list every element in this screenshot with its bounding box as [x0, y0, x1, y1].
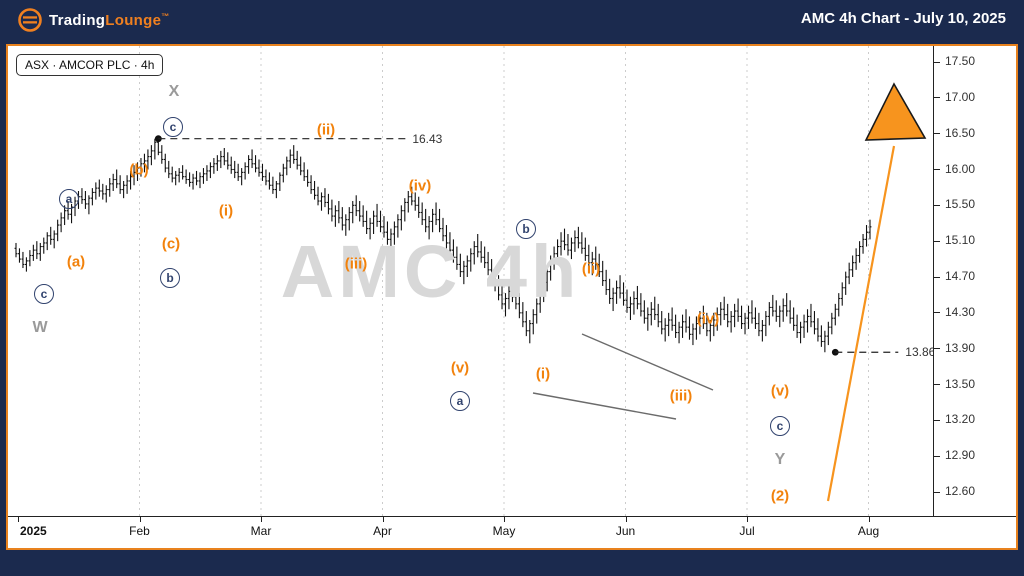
ohlc-bar	[469, 248, 472, 271]
price-tick-label: 16.50	[945, 126, 975, 140]
ohlc-bar	[841, 282, 844, 305]
ohlc-bar	[275, 181, 278, 198]
ohlc-bar	[490, 259, 493, 284]
ohlc-bar	[803, 315, 806, 338]
ohlc-bar	[320, 192, 323, 210]
ohlc-bar	[622, 282, 625, 305]
brand-logo: TradingLounge™	[18, 8, 170, 32]
ohlc-bar	[674, 315, 677, 338]
ohlc-bar	[122, 181, 125, 198]
ohlc-bar	[612, 288, 615, 311]
ohlc-bar	[601, 261, 604, 286]
ohlc-bar	[487, 252, 490, 275]
ohlc-bar	[855, 248, 858, 269]
ohlc-bar	[796, 315, 799, 338]
chart-screenshot: TradingLounge™ AMC 4h Chart - July 10, 2…	[0, 0, 1024, 576]
ohlc-bar	[629, 297, 632, 320]
wave-label-ii-14: (ii)	[317, 122, 335, 139]
ohlc-bar	[726, 304, 729, 327]
ohlc-bar	[844, 272, 847, 295]
ohlc-bar	[185, 170, 188, 184]
wave-label-X-0: X	[169, 83, 180, 101]
ohlc-bar	[296, 151, 299, 170]
price-tick-mark	[934, 456, 940, 457]
ohlc-bar	[396, 214, 399, 237]
forecast-arrow-head	[866, 84, 925, 140]
ohlc-bar	[837, 293, 840, 316]
ohlc-bar	[657, 304, 660, 327]
ohlc-bar	[81, 188, 84, 204]
ohlc-bar	[577, 227, 580, 249]
ohlc-bar	[25, 257, 28, 271]
ohlc-bar	[181, 165, 184, 179]
price-tick-label: 16.00	[945, 162, 975, 176]
ohlc-bar	[247, 155, 250, 174]
ohlc-bar	[757, 313, 760, 336]
time-tick-label: Jun	[616, 524, 635, 538]
ohlc-bar	[514, 286, 517, 309]
ohlc-bar	[167, 161, 170, 178]
ohlc-bar	[153, 139, 156, 160]
price-tick-mark	[934, 169, 940, 170]
ohlc-bar	[358, 201, 361, 221]
ohlc-bar	[848, 263, 851, 285]
ohlc-bar	[584, 238, 587, 261]
price-tick-mark	[934, 492, 940, 493]
time-axis[interactable]: 2025FebMarAprMayJunJulAug	[8, 516, 1016, 548]
ohlc-bar	[851, 256, 854, 278]
ohlc-bar	[462, 261, 465, 284]
wave-label-iv-16: (iv)	[409, 178, 432, 195]
ohlc-bar	[678, 322, 681, 344]
ohlc-bar	[341, 207, 344, 230]
time-tick-mark	[383, 517, 384, 522]
price-tick-label: 13.20	[945, 412, 975, 426]
ohlc-bar	[230, 157, 233, 174]
ohlc-bar	[178, 168, 181, 182]
ohlc-bar	[393, 221, 396, 244]
ohlc-bar	[372, 211, 375, 234]
ohlc-bar	[466, 256, 469, 278]
ohlc-bar	[428, 216, 431, 239]
price-tick-label: 15.50	[945, 197, 975, 211]
ohlc-bar	[403, 198, 406, 221]
ohlc-bar	[563, 229, 566, 251]
ohlc-bar	[205, 165, 208, 181]
wave-label-c-6: c	[163, 117, 183, 137]
ohlc-bar	[619, 275, 622, 298]
ohlc-bar	[195, 171, 198, 185]
ohlc-bar	[344, 214, 347, 236]
price-tick-mark	[934, 420, 940, 421]
ohlc-bar	[327, 194, 330, 214]
ohlc-bar	[771, 295, 774, 316]
ohlc-bar	[764, 311, 767, 336]
time-tick-mark	[626, 517, 627, 522]
ohlc-bar	[199, 172, 202, 188]
ohlc-bar	[289, 149, 292, 168]
ohlc-bar	[303, 162, 306, 181]
ohlc-bar	[813, 311, 816, 334]
ohlc-bar	[650, 302, 653, 325]
ohlc-bar	[473, 241, 476, 264]
ohlc-bar	[28, 250, 31, 266]
ohlc-bar	[494, 268, 497, 291]
ohlc-bar	[348, 207, 351, 230]
ohlc-bar	[459, 254, 462, 277]
ohlc-bar	[546, 266, 549, 291]
ohlc-bar	[646, 307, 649, 330]
ohlc-bar	[306, 170, 309, 187]
ohlc-bar	[32, 245, 35, 261]
ohlc-bar	[271, 177, 274, 194]
ohlc-bar	[688, 316, 691, 339]
ohlc-bar	[667, 313, 670, 336]
ohlc-bar	[160, 145, 163, 164]
ohlc-bar	[108, 178, 111, 197]
time-tick-label: Aug	[858, 524, 879, 538]
ohlc-bar	[285, 157, 288, 176]
ohlc-bar	[528, 320, 531, 343]
wave-label-v-22: (v)	[771, 383, 789, 400]
chart-plot-area[interactable]: AMC 4h XWYcabcabc(a)(b)(c)(i)(ii)(iii)(i…	[8, 46, 933, 516]
ohlc-bar	[351, 201, 354, 223]
wave-label-a-10: (a)	[67, 254, 85, 271]
ohlc-bar	[324, 188, 327, 207]
time-tick-mark	[869, 517, 870, 522]
ohlc-bar	[237, 164, 240, 181]
time-tick-label: Apr	[373, 524, 392, 538]
ohlc-bar	[570, 238, 573, 259]
ohlc-bar	[823, 331, 826, 353]
ohlc-bar	[730, 311, 733, 333]
ohlc-bar	[480, 241, 483, 263]
wave-label-ii-19: (ii)	[582, 261, 600, 278]
ohlc-bar	[21, 252, 24, 268]
ohlc-bar	[101, 184, 104, 200]
price-axis[interactable]: 17.5017.0016.5016.0015.5015.1014.7014.30…	[933, 46, 1016, 516]
ohlc-bar	[174, 171, 177, 185]
time-tick-mark	[18, 517, 19, 522]
ohlc-bar	[664, 318, 667, 341]
ohlc-bar	[858, 241, 861, 263]
price-bars-svg	[8, 46, 933, 516]
ohlc-bar	[775, 300, 778, 321]
ohlc-bar	[417, 197, 420, 218]
ohlc-bar	[761, 320, 764, 342]
ohlc-bar	[84, 191, 87, 209]
ohlc-bar	[782, 299, 785, 322]
ohlc-bar	[660, 311, 663, 334]
ohlc-bar	[91, 188, 94, 205]
ohlc-bar	[605, 270, 608, 295]
ohlc-bar	[226, 152, 229, 169]
ohlc-bar	[525, 311, 528, 336]
ohlc-bar	[254, 155, 257, 172]
chart-frame: AMC 4h XWYcabcabc(a)(b)(c)(i)(ii)(iii)(i…	[6, 44, 1018, 550]
ohlc-bar	[310, 175, 313, 194]
ohlc-bar	[369, 218, 372, 240]
price-tick-mark	[934, 205, 940, 206]
tradinglounge-circle-icon	[18, 8, 42, 32]
gridlines-group	[140, 46, 869, 516]
price-tick-label: 14.30	[945, 305, 975, 319]
ohlc-bar	[317, 187, 320, 206]
ohlc-bar	[313, 181, 316, 200]
page-title: AMC 4h Chart - July 10, 2025	[801, 10, 1006, 27]
price-tick-mark	[934, 384, 940, 385]
ohlc-bar	[733, 304, 736, 327]
ohlc-bar	[334, 205, 337, 227]
ohlc-bar	[94, 182, 97, 199]
ohlc-bar	[476, 234, 479, 257]
ohlc-bar	[820, 325, 823, 347]
ohlc-bar	[244, 162, 247, 179]
ohlc-bar	[39, 243, 42, 261]
ohlc-bar	[164, 154, 167, 173]
wave-label-W-1: W	[32, 319, 47, 337]
ohlc-bar	[865, 225, 868, 247]
brand-wordmark: TradingLounge™	[49, 12, 170, 29]
wave-label-b-8: b	[516, 219, 536, 239]
ohlc-bar	[580, 232, 583, 254]
ohlc-bar	[282, 164, 285, 183]
time-tick-label: Feb	[129, 524, 150, 538]
ohlc-bar	[869, 220, 872, 240]
ohlc-bar	[834, 304, 837, 326]
ohlc-bar	[691, 324, 694, 346]
ohlc-bar	[240, 168, 243, 185]
ohlc-bar	[216, 155, 219, 171]
ohlc-bar	[98, 180, 101, 197]
time-tick-label: Mar	[251, 524, 272, 538]
ohlc-bar	[435, 202, 438, 225]
ohlc-bar	[268, 172, 271, 189]
time-tick-label: 2025	[20, 524, 47, 538]
ohlc-bar	[789, 300, 792, 323]
ohlc-bar	[497, 275, 500, 300]
ohlc-bar	[632, 291, 635, 314]
ohlc-bar	[744, 313, 747, 335]
ohlc-bar	[816, 318, 819, 341]
wave-label-iii-15: (iii)	[345, 256, 368, 273]
price-tick-label: 17.00	[945, 90, 975, 104]
price-tick-mark	[934, 241, 940, 242]
wave-label-v-17: (v)	[451, 360, 469, 377]
ohlc-bar	[421, 202, 424, 225]
price-tick-label: 17.50	[945, 54, 975, 68]
ohlc-bar	[212, 158, 215, 174]
ohlc-bar	[830, 313, 833, 335]
ohlc-bar	[171, 167, 174, 183]
ohlc-bar	[431, 209, 434, 232]
ohlc-bar	[521, 302, 524, 327]
wave-label-iv-21: (iv)	[697, 311, 720, 328]
ohlc-bar	[681, 315, 684, 338]
ohlc-bar	[549, 256, 552, 281]
ohlc-bar	[567, 234, 570, 256]
page-header: TradingLounge™ AMC 4h Chart - July 10, 2…	[0, 0, 1024, 40]
ohlc-bar	[737, 299, 740, 322]
ohlc-bar	[219, 151, 222, 168]
ohlc-bar	[376, 204, 379, 227]
ohlc-bar	[442, 218, 445, 241]
ohlc-bar	[508, 286, 511, 309]
ohlc-bar	[365, 211, 368, 234]
ohlc-bar	[810, 304, 813, 327]
trademark-symbol: ™	[161, 12, 169, 21]
wave-label-i-18: (i)	[536, 366, 550, 383]
ohlc-bar	[792, 307, 795, 330]
price-tick-mark	[934, 62, 940, 63]
ohlc-bar	[56, 220, 59, 242]
ohlc-bar	[768, 302, 771, 325]
ohlc-bar	[483, 247, 486, 269]
ohlc-bar	[209, 162, 212, 178]
ohlc-bar	[754, 307, 757, 329]
price-tick-label: 13.50	[945, 377, 975, 391]
time-tick-mark	[261, 517, 262, 522]
low-pivot-price-label: 13.86	[905, 345, 933, 359]
price-tick-mark	[934, 348, 940, 349]
ohlc-bar	[60, 213, 63, 233]
ohlc-bar	[636, 286, 639, 309]
ohlc-bar	[445, 225, 448, 248]
ohlc-bar	[448, 232, 451, 255]
ohlc-bar	[535, 299, 538, 324]
ohlc-bar	[615, 281, 618, 304]
ohlc-bar	[539, 288, 542, 313]
ohlc-bar	[258, 159, 261, 176]
wave-label-b-5: b	[160, 268, 180, 288]
time-tick-label: May	[493, 524, 516, 538]
price-tick-mark	[934, 97, 940, 98]
ohlc-bar	[119, 175, 122, 194]
high-pivot-price-label: 16.43	[412, 132, 442, 146]
ohlc-bar	[671, 307, 674, 330]
ohlc-bar	[414, 192, 417, 210]
ohlc-bar	[608, 279, 611, 304]
ohlc-bar	[389, 229, 392, 251]
ohlc-bar	[452, 239, 455, 262]
wave-label-iii-20: (iii)	[670, 388, 693, 405]
ohlc-bar	[553, 247, 556, 270]
ohlc-bar	[723, 297, 726, 320]
price-tick-label: 15.10	[945, 233, 975, 247]
wave-label-a-7: a	[450, 391, 470, 411]
ohlc-bar	[751, 300, 754, 323]
ohlc-bar	[87, 195, 90, 214]
price-tick-mark	[934, 277, 940, 278]
wave-label-Y-2: Y	[775, 451, 786, 469]
ohlc-bar	[299, 157, 302, 176]
ohlc-bar	[862, 234, 865, 254]
ohlc-bar	[202, 168, 205, 184]
ohlc-bar	[233, 161, 236, 178]
wave-label-2-23: (2)	[771, 488, 789, 505]
ohlc-bar	[639, 293, 642, 316]
ohlc-bar	[223, 148, 226, 165]
ohlc-bar	[573, 230, 576, 252]
ohlc-bar	[455, 247, 458, 270]
ohlc-bar	[330, 200, 333, 222]
ohlc-bar	[379, 211, 382, 233]
ohlc-bar	[532, 309, 535, 334]
ohlc-bar	[511, 279, 514, 302]
ohlc-bar	[112, 174, 115, 191]
time-tick-mark	[504, 517, 505, 522]
ohlc-bar	[556, 239, 559, 262]
symbol-legend-chip[interactable]: ASX · AMCOR PLC · 4h	[16, 54, 163, 76]
ohlc-bar	[53, 230, 56, 248]
ohlc-bar	[15, 243, 18, 257]
time-tick-mark	[747, 517, 748, 522]
ohlc-bar	[799, 322, 802, 344]
ohlc-bar	[785, 293, 788, 316]
price-tick-label: 12.60	[945, 484, 975, 498]
forecast-arrow-shaft	[828, 146, 894, 501]
ohlc-bar	[355, 195, 358, 216]
ohlc-bar	[424, 209, 427, 232]
price-tick-label: 14.70	[945, 269, 975, 283]
time-tick-label: Jul	[739, 524, 754, 538]
wave-label-c-3: c	[34, 284, 54, 304]
ohlc-bar	[383, 216, 386, 238]
wave-label-b-11: (b)	[129, 162, 148, 179]
ohlc-bar	[518, 293, 521, 318]
ohlc-bar	[251, 149, 254, 168]
brand-word-trading: Trading	[49, 12, 105, 29]
ohlc-bar	[264, 170, 267, 186]
ohlc-bar	[362, 205, 365, 227]
ohlc-bar	[806, 309, 809, 332]
ohlc-bar	[126, 175, 129, 194]
ohlc-bar	[18, 248, 21, 262]
wave-label-c-9: c	[770, 416, 790, 436]
ohlc-bar	[35, 241, 38, 259]
ohlc-bar	[501, 284, 504, 309]
ohlc-bar	[740, 306, 743, 329]
time-tick-mark	[140, 517, 141, 522]
ohlc-bar	[827, 322, 830, 345]
ohlc-bar	[653, 297, 656, 320]
price-tick-mark	[934, 312, 940, 313]
ohlc-bar	[49, 227, 52, 245]
ohlc-bar	[42, 238, 45, 254]
brand-word-lounge: Lounge	[105, 12, 161, 29]
ohlc-bar	[778, 306, 781, 328]
ohlc-bar	[438, 209, 441, 232]
ohlc-bar	[105, 185, 108, 202]
price-tick-mark	[934, 133, 940, 134]
wave-label-a-4: a	[59, 189, 79, 209]
ohlc-bar	[400, 205, 403, 230]
ohlc-bar	[685, 309, 688, 332]
price-tick-label: 13.90	[945, 341, 975, 355]
wave-label-c-12: (c)	[162, 236, 180, 253]
price-tick-label: 12.90	[945, 448, 975, 462]
ohlc-bar	[150, 145, 153, 165]
ohlc-bar	[337, 201, 340, 223]
channel-line-lower	[533, 393, 676, 419]
wave-label-i-13: (i)	[219, 203, 233, 220]
ohlc-bar	[643, 300, 646, 323]
ohlc-bar	[192, 174, 195, 190]
ohlc-bar	[560, 232, 563, 255]
ohlc-bar	[278, 172, 281, 191]
ohlc-bar	[386, 221, 389, 244]
ohlc-bar	[115, 170, 118, 189]
